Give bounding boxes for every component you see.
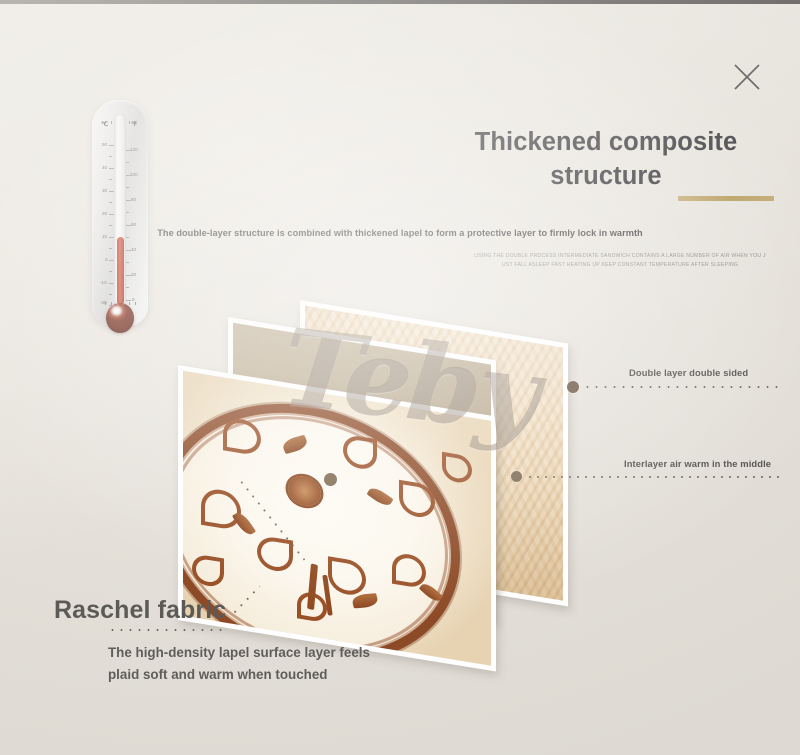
callout-leader-interlayer-air xyxy=(526,476,779,478)
page-title-line-1: Thickened composite xyxy=(430,125,782,159)
callout-marker-raschel xyxy=(324,473,337,486)
close-icon[interactable] xyxy=(731,61,763,93)
callout-leader-double-layer xyxy=(583,386,779,388)
secondary-description: USING THE DOUBLE PROCESS INTERMEDIATE SA… xyxy=(440,252,800,271)
lead-description: The double-layer structure is combined w… xyxy=(0,228,800,238)
ornament-medallion xyxy=(263,447,346,534)
footer-description: The high-density lapel surface layer fee… xyxy=(108,642,448,685)
callout-label-interlayer-air: Interlayer air warm in the middle xyxy=(624,458,771,469)
page-title: Thickened composite structure xyxy=(430,125,782,193)
thermometer-icon: ℃ ℉ 50 40 30 20 10 0 -10 -20 120 100 80 … xyxy=(92,100,148,343)
secondary-description-line-1: USING THE DOUBLE PROCESS INTERMEDIATE SA… xyxy=(440,252,800,261)
footer-description-line-1: The high-density lapel surface layer fee… xyxy=(108,642,448,664)
front-panel-texture xyxy=(183,371,491,666)
footer-title-underline xyxy=(108,629,228,631)
footer-description-line-2: plaid soft and warm when touched xyxy=(108,664,448,686)
thermometer-fahrenheit-unit: ℉ xyxy=(131,120,137,128)
footer-title: Raschel fabric xyxy=(54,596,226,625)
infographic-canvas: Teby ℃ ℉ 50 40 30 20 10 0 -10 -20 120 10… xyxy=(0,0,800,755)
title-accent-bar xyxy=(678,196,774,201)
callout-marker-interlayer-air xyxy=(511,471,522,482)
callout-label-double-layer: Double layer double sided xyxy=(629,367,748,378)
page-title-line-2: structure xyxy=(430,159,782,193)
thermometer-celsius-unit: ℃ xyxy=(101,120,108,128)
callout-marker-double-layer xyxy=(567,381,579,393)
layer-panel-front xyxy=(178,365,496,672)
secondary-description-line-2: UST FALL ASLEEP FAST HEATING UP KEEP CON… xyxy=(440,261,800,270)
